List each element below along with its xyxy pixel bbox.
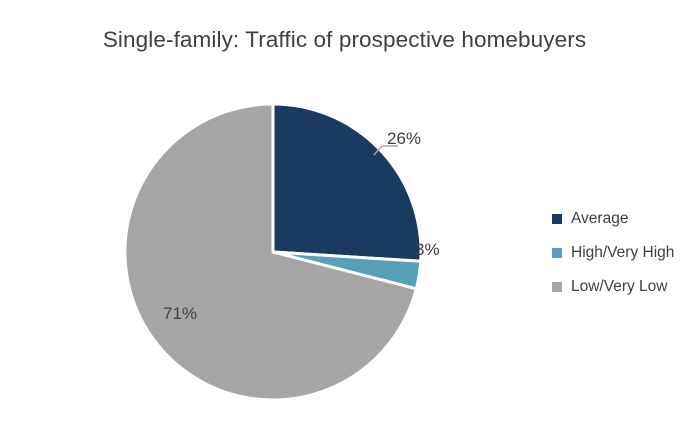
pie-slice-average[interactable] xyxy=(273,104,421,261)
legend-label-high-very-high: High/Very High xyxy=(571,245,674,261)
data-label-low-very-low: 71% xyxy=(163,305,197,322)
legend-swatch-icon-high-very-high xyxy=(552,248,562,258)
pie-chart: Single-family: Traffic of prospective ho… xyxy=(0,0,689,448)
legend-item-low-very-low[interactable]: Low/Very Low xyxy=(552,270,689,304)
pie-svg xyxy=(0,0,540,448)
legend-label-average: Average xyxy=(571,211,628,227)
legend-item-high-very-high[interactable]: High/Very High xyxy=(552,236,689,270)
legend-item-average[interactable]: Average xyxy=(552,202,689,236)
chart-legend: Average High/Very High Low/Very Low xyxy=(552,202,689,304)
legend-swatch-icon-average xyxy=(552,214,562,224)
legend-swatch-icon-low-very-low xyxy=(552,282,562,292)
plot-area: 26% 3% 71% xyxy=(0,0,540,448)
data-label-average: 26% xyxy=(387,130,421,147)
data-label-high-very-high: 3% xyxy=(415,241,440,258)
legend-label-low-very-low: Low/Very Low xyxy=(571,279,668,295)
